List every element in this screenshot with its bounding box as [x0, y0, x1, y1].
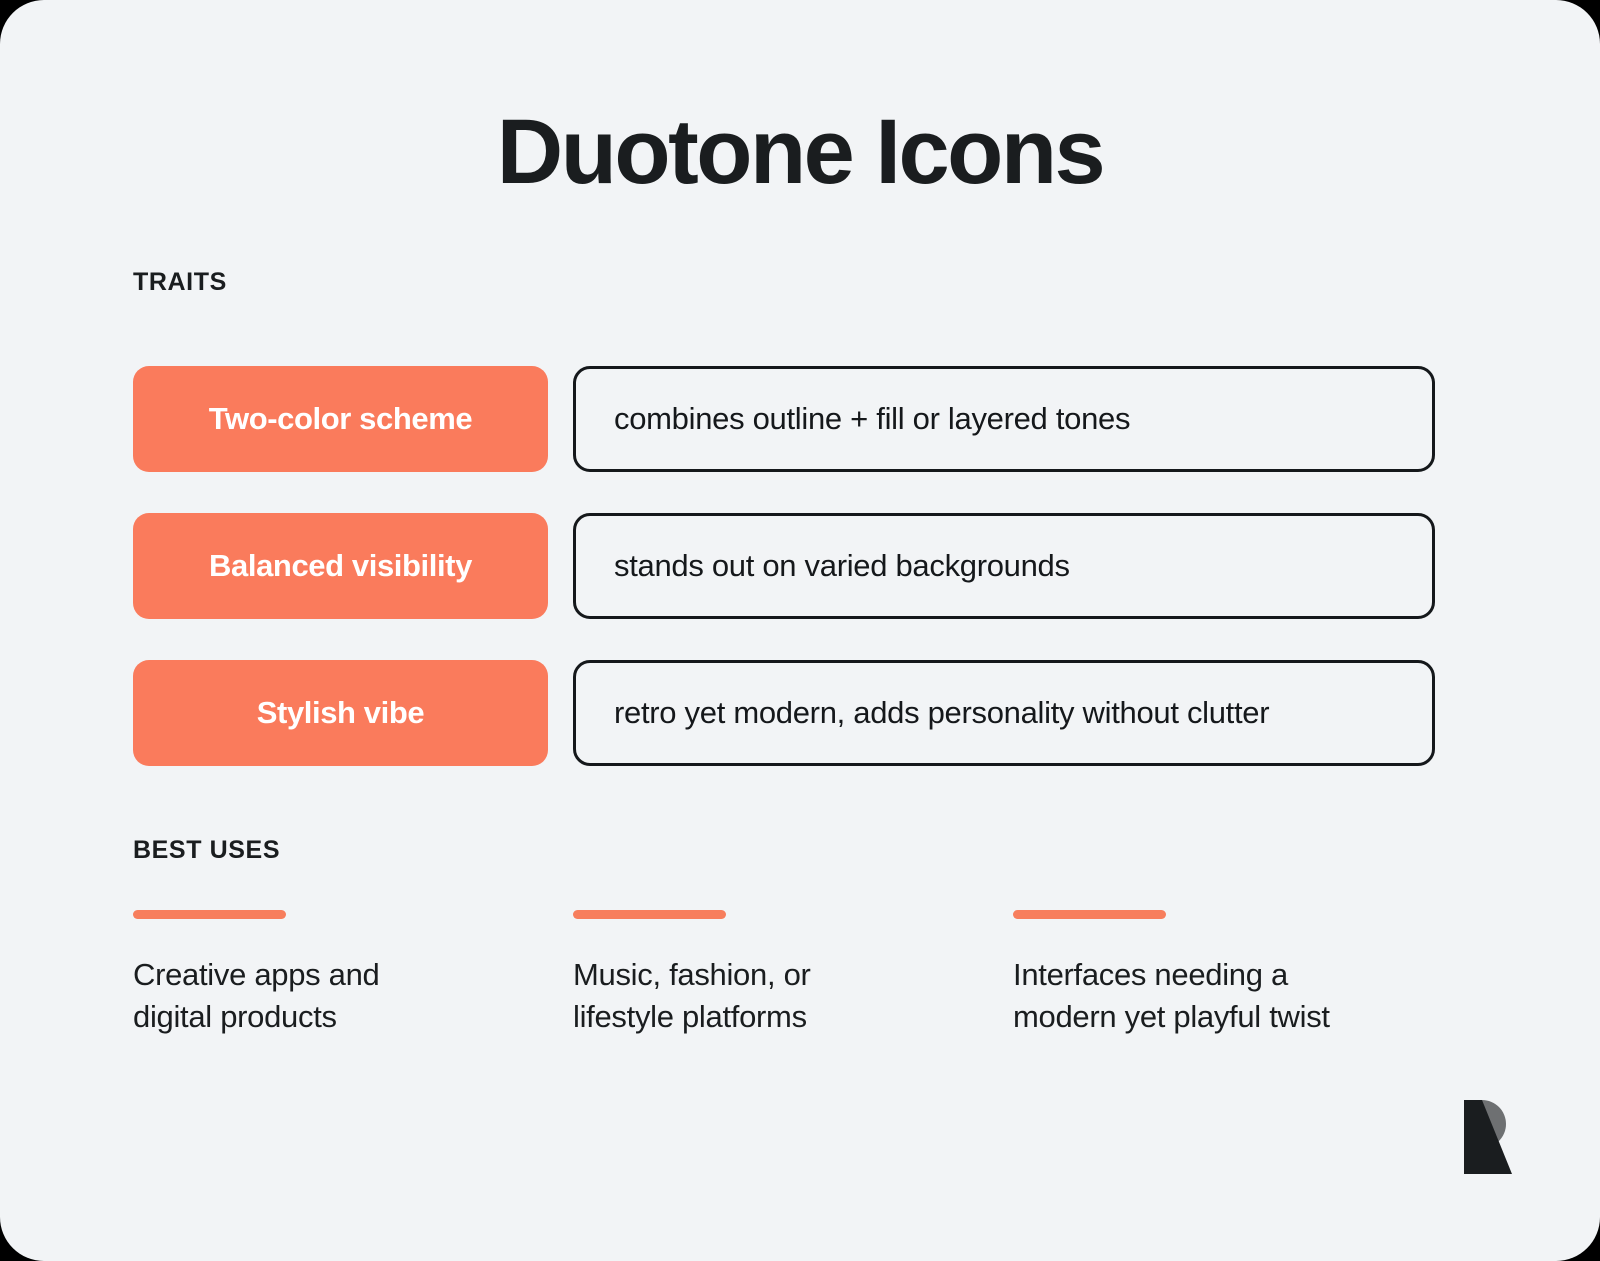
trait-row: Stylish vibe retro yet modern, adds pers…: [133, 660, 1435, 766]
trait-pill-label: Two-color scheme: [209, 400, 472, 437]
best-use-item: Creative apps and digital products: [133, 910, 573, 1038]
best-use-text: Interfaces needing a modern yet playful …: [1013, 954, 1413, 1038]
trait-pill-label: Stylish vibe: [257, 694, 425, 731]
trait-pill-label: Balanced visibility: [209, 547, 472, 584]
best-use-text: Music, fashion, or lifestyle platforms: [573, 954, 973, 1038]
traits-section-label: TRAITS: [133, 268, 1435, 297]
trait-description-balanced-visibility: stands out on varied backgrounds: [573, 513, 1435, 619]
best-use-item: Music, fashion, or lifestyle platforms: [573, 910, 1013, 1038]
best-uses-section-label: BEST USES: [133, 836, 280, 865]
trait-pill-stylish-vibe[interactable]: Stylish vibe: [133, 660, 548, 766]
trait-description-stylish-vibe: retro yet modern, adds personality witho…: [573, 660, 1435, 766]
trait-description-text: retro yet modern, adds personality witho…: [614, 694, 1269, 733]
trait-description-text: combines outline + fill or layered tones: [614, 400, 1130, 439]
trait-description-two-color-scheme: combines outline + fill or layered tones: [573, 366, 1435, 472]
trait-pill-two-color-scheme[interactable]: Two-color scheme: [133, 366, 548, 472]
trait-row: Balanced visibility stands out on varied…: [133, 513, 1435, 619]
brand-logo-icon: [1462, 1098, 1516, 1176]
trait-pill-balanced-visibility[interactable]: Balanced visibility: [133, 513, 548, 619]
trait-row: Two-color scheme combines outline + fill…: [133, 366, 1435, 472]
accent-rule-divider: [573, 910, 726, 919]
accent-rule-divider: [1013, 910, 1166, 919]
accent-rule-divider: [133, 910, 286, 919]
traits-list: Two-color scheme combines outline + fill…: [133, 366, 1435, 766]
best-use-item: Interfaces needing a modern yet playful …: [1013, 910, 1453, 1038]
trait-description-text: stands out on varied backgrounds: [614, 547, 1070, 586]
content-card: Duotone Icons TRAITS Two-color scheme co…: [0, 0, 1600, 1261]
page-title: Duotone Icons: [0, 0, 1600, 201]
best-uses-list: Creative apps and digital products Music…: [133, 910, 1453, 1038]
best-use-text: Creative apps and digital products: [133, 954, 533, 1038]
